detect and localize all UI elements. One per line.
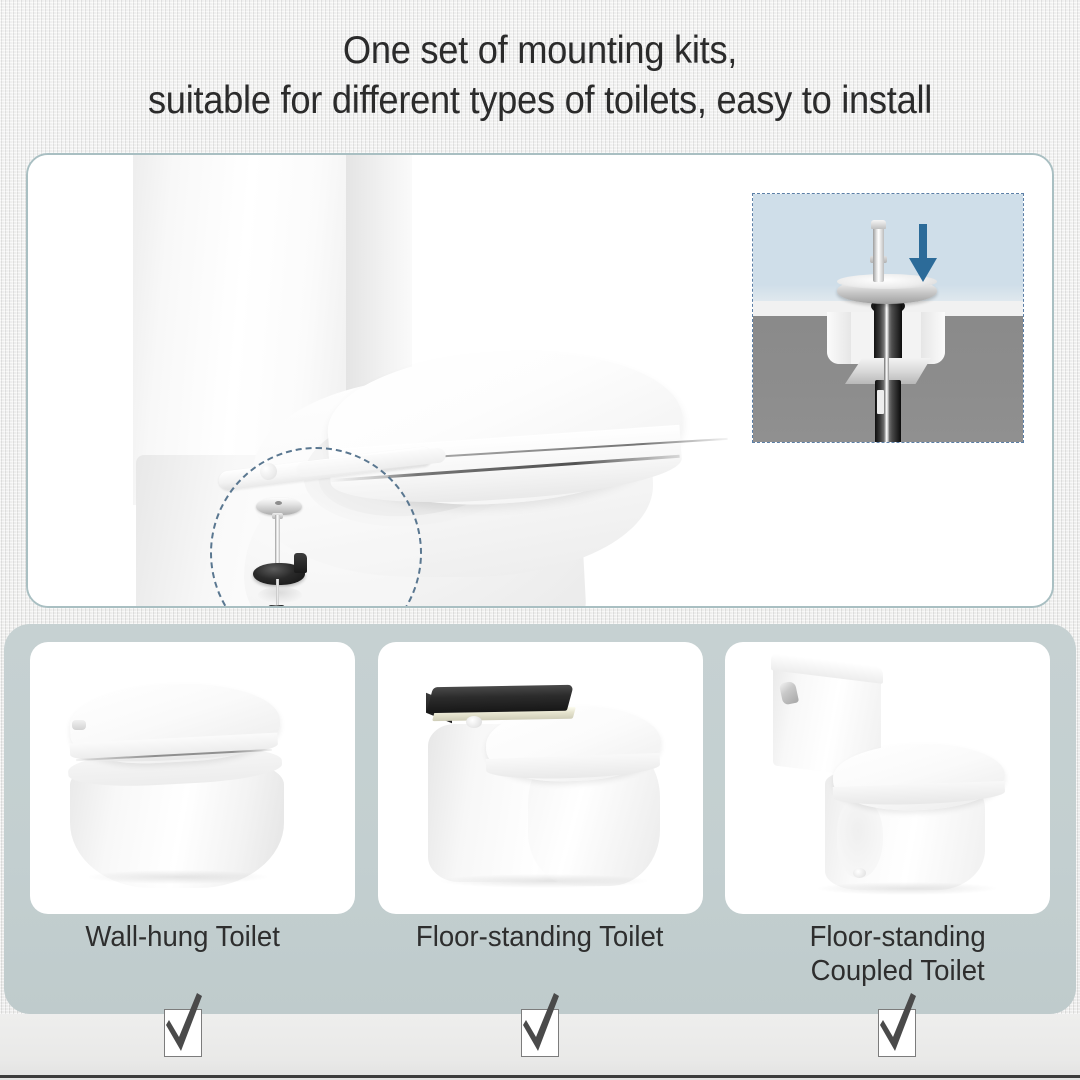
inset-recess-left-wall bbox=[827, 312, 851, 364]
headline-line-2: suitable for different types of toilets,… bbox=[38, 76, 1042, 126]
check-icon bbox=[514, 989, 566, 1055]
coupled-floor-bolt-cap bbox=[853, 868, 866, 878]
check-icon bbox=[157, 989, 209, 1055]
check-icon bbox=[871, 989, 923, 1055]
toilet-type-card-coupled[interactable] bbox=[725, 642, 1050, 914]
bottom-rule bbox=[0, 1075, 1080, 1078]
headline-line-1: One set of mounting kits, bbox=[38, 26, 1042, 76]
coupled-trapway bbox=[837, 800, 883, 878]
label-floor-standing-coupled: Floor-standing Coupled Toilet bbox=[728, 920, 1067, 988]
toilet-type-labels: Wall-hung Toilet Floor-standing Toilet F… bbox=[4, 920, 1076, 988]
wall-hung-hinge bbox=[72, 720, 86, 730]
page-title: One set of mounting kits, suitable for d… bbox=[38, 26, 1042, 126]
checkmark-floor-standing bbox=[361, 1003, 718, 1063]
hero-panel bbox=[26, 153, 1054, 608]
inset-anchor-slot bbox=[877, 390, 884, 414]
chrome-cap-hole bbox=[275, 501, 282, 505]
toilet-type-cards bbox=[4, 624, 1076, 914]
anchor-rod bbox=[276, 579, 279, 608]
toilet-type-card-floor-standing[interactable] bbox=[378, 642, 703, 914]
cross-section-inset bbox=[752, 193, 1024, 443]
floor-standing-shadow bbox=[440, 874, 648, 888]
checkmark-wall-hung bbox=[4, 1003, 361, 1063]
down-arrow-icon bbox=[919, 224, 927, 262]
washer-ghost-reflection bbox=[258, 587, 302, 603]
coupled-shadow bbox=[817, 882, 997, 895]
floor-standing-black-panel bbox=[426, 685, 574, 713]
checkmarks-row bbox=[4, 1003, 1076, 1063]
screw-bolt-shaft bbox=[275, 515, 280, 567]
inset-post-cap bbox=[871, 220, 886, 229]
floor-standing-bolt-cap bbox=[466, 716, 482, 728]
label-wall-hung: Wall-hung Toilet bbox=[13, 920, 352, 988]
toilet-type-card-wall-hung[interactable] bbox=[30, 642, 355, 914]
checkmark-floor-standing-coupled bbox=[719, 1003, 1076, 1063]
expansion-anchor bbox=[268, 605, 285, 608]
wall-hung-shadow bbox=[88, 870, 268, 884]
inset-anchor-rod bbox=[884, 302, 889, 443]
toilet-types-panel: Wall-hung Toilet Floor-standing Toilet F… bbox=[4, 624, 1076, 1014]
inset-upright-post bbox=[873, 226, 884, 282]
inset-recess-right-wall bbox=[921, 312, 945, 364]
label-floor-standing: Floor-standing Toilet bbox=[370, 920, 709, 988]
rubber-washer-tab bbox=[294, 553, 307, 573]
